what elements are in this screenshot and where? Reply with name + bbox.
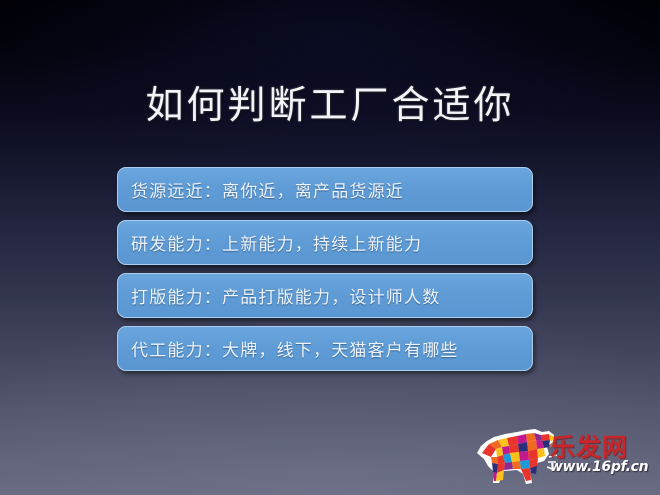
- bullet-item-3: 打版能力：产品打版能力，设计师人数: [117, 273, 533, 318]
- slide-title: 如何判断工厂合适你: [0, 74, 660, 129]
- bullet-item-2: 研发能力：上新能力，持续上新能力: [117, 220, 533, 265]
- brand-url: www.16pf.cn: [550, 459, 660, 475]
- watermark: 乐发网 www.16pf.cn: [474, 424, 656, 490]
- bullet-item-1: 货源远近：离你近，离产品货源近: [117, 167, 533, 212]
- bullet-item-label: 研发能力：上新能力，持续上新能力: [118, 230, 422, 255]
- presentation-slide: 如何判断工厂合适你 货源远近：离你近，离产品货源近 研发能力：上新能力，持续上新…: [0, 0, 660, 495]
- bullet-list: 货源远近：离你近，离产品货源近 研发能力：上新能力，持续上新能力 打版能力：产品…: [117, 167, 533, 379]
- polygonal-bull-icon: [474, 424, 558, 488]
- bullet-item-label: 打版能力：产品打版能力，设计师人数: [118, 283, 440, 308]
- brand-block: 乐发网 www.16pf.cn: [550, 426, 656, 488]
- bullet-item-4: 代工能力：大牌，线下，天猫客户有哪些: [117, 326, 533, 371]
- bullet-item-label: 代工能力：大牌，线下，天猫客户有哪些: [118, 336, 459, 361]
- bullet-item-label: 货源远近：离你近，离产品货源近: [118, 177, 404, 202]
